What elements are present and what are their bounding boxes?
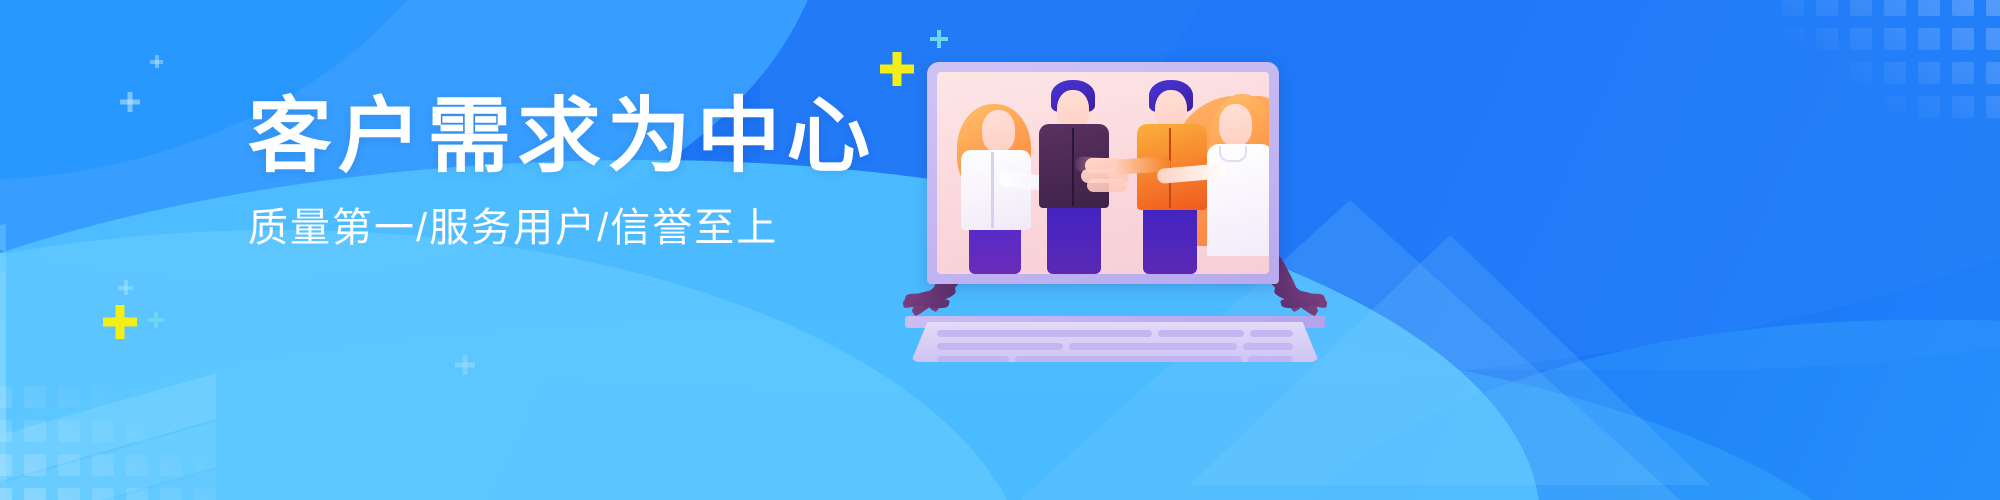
- person-woman-white-dress: [1193, 88, 1269, 274]
- grid-dot: [24, 386, 46, 408]
- dot-grid-bottom-left: [0, 386, 216, 500]
- banner-copy: 客户需求为中心 质量第一/服务用户/信誉至上: [248, 96, 868, 248]
- plus-pale-mid-left-icon: [120, 92, 140, 112]
- promo-banner: 客户需求为中心 质量第一/服务用户/信誉至上: [0, 0, 2000, 500]
- grid-dot: [1986, 0, 2000, 16]
- grid-dot: [1850, 0, 1872, 16]
- grid-dot: [160, 386, 182, 408]
- keyboard-row: [937, 343, 1293, 350]
- laptop-screen: [937, 72, 1269, 274]
- grid-dot: [1816, 96, 1838, 118]
- grid-dot: [0, 488, 12, 500]
- grid-dot: [1952, 62, 1974, 84]
- grid-dot: [0, 420, 12, 442]
- laptop-illustration: [905, 62, 1325, 362]
- grid-dot: [1816, 28, 1838, 50]
- grid-dot: [58, 488, 80, 500]
- grid-dot: [1782, 0, 1804, 16]
- dress-collar: [1219, 146, 1247, 162]
- grid-dot: [1782, 28, 1804, 50]
- grid-dot: [1986, 96, 2000, 118]
- banner-headline: 客户需求为中心: [248, 96, 880, 178]
- laptop-lid: [927, 62, 1279, 284]
- wave-bottom-pale: [0, 230, 1030, 500]
- hand-bottom: [1087, 179, 1127, 192]
- chevron-arrow-1: [0, 163, 216, 492]
- grid-dot: [1986, 62, 2000, 84]
- grid-dot: [1918, 28, 1940, 50]
- head: [982, 110, 1015, 152]
- grid-dot: [194, 420, 216, 442]
- plus-cyan-small-top-icon: [930, 30, 948, 48]
- plus-yellow-large-bottom-icon: [103, 305, 137, 339]
- plus-cyan-small-bottom-icon: [148, 312, 164, 328]
- grid-dot: [1816, 0, 1838, 16]
- chevron-arrow-3: [0, 259, 216, 500]
- jacket-seam: [991, 152, 994, 228]
- grid-dot: [194, 488, 216, 500]
- grid-dot: [58, 454, 80, 476]
- grid-dot: [92, 386, 114, 408]
- head: [1219, 104, 1252, 146]
- chevron-arrow-2: [0, 211, 216, 500]
- grid-dot: [58, 420, 80, 442]
- grid-dot: [1884, 62, 1906, 84]
- grid-dot: [1918, 96, 1940, 118]
- grid-dot: [1782, 96, 1804, 118]
- banner-subline: 质量第一/服务用户/信誉至上: [248, 208, 868, 248]
- grid-dot: [1884, 96, 1906, 118]
- dot-grid-top-right: [1782, 0, 2000, 118]
- torso-white-jacket: [961, 150, 1031, 230]
- grid-dot: [1986, 28, 2000, 50]
- plus-pale-bottom-mid-icon: [455, 355, 475, 375]
- grid-dot: [160, 454, 182, 476]
- plus-pale-upper-left-icon: [150, 55, 163, 68]
- grid-dot: [194, 386, 216, 408]
- grid-dot: [1782, 62, 1804, 84]
- grid-dot: [160, 420, 182, 442]
- grid-dot: [1884, 0, 1906, 16]
- grid-dot: [1850, 28, 1872, 50]
- keyboard-row: [937, 356, 1293, 363]
- grid-dot: [1918, 62, 1940, 84]
- grid-dot: [24, 420, 46, 442]
- keyboard-row: [937, 330, 1293, 337]
- grid-dot: [160, 488, 182, 500]
- grid-dot: [194, 454, 216, 476]
- grid-dot: [92, 454, 114, 476]
- grid-dot: [0, 454, 12, 476]
- person-woman-white-jacket: [951, 96, 1043, 274]
- grid-dot: [24, 454, 46, 476]
- shirt-placket: [1072, 128, 1074, 206]
- grid-dot: [126, 386, 148, 408]
- grid-dot: [1850, 96, 1872, 118]
- grid-dot: [24, 488, 46, 500]
- wave-bottom-right: [1250, 320, 2000, 500]
- grid-dot: [58, 386, 80, 408]
- grid-dot: [126, 488, 148, 500]
- grid-dot: [1850, 62, 1872, 84]
- grid-dot: [92, 488, 114, 500]
- plus-pale-lower-center-icon: [118, 280, 133, 295]
- grid-dot: [1816, 62, 1838, 84]
- grid-dot: [126, 454, 148, 476]
- laptop-keyboard: [911, 322, 1319, 362]
- grid-dot: [1952, 0, 1974, 16]
- grid-dot: [0, 386, 12, 408]
- grid-dot: [1952, 96, 1974, 118]
- grid-dot: [1884, 28, 1906, 50]
- grid-dot: [126, 420, 148, 442]
- grid-dot: [92, 420, 114, 442]
- grid-dot: [1952, 28, 1974, 50]
- grid-dot: [1918, 0, 1940, 16]
